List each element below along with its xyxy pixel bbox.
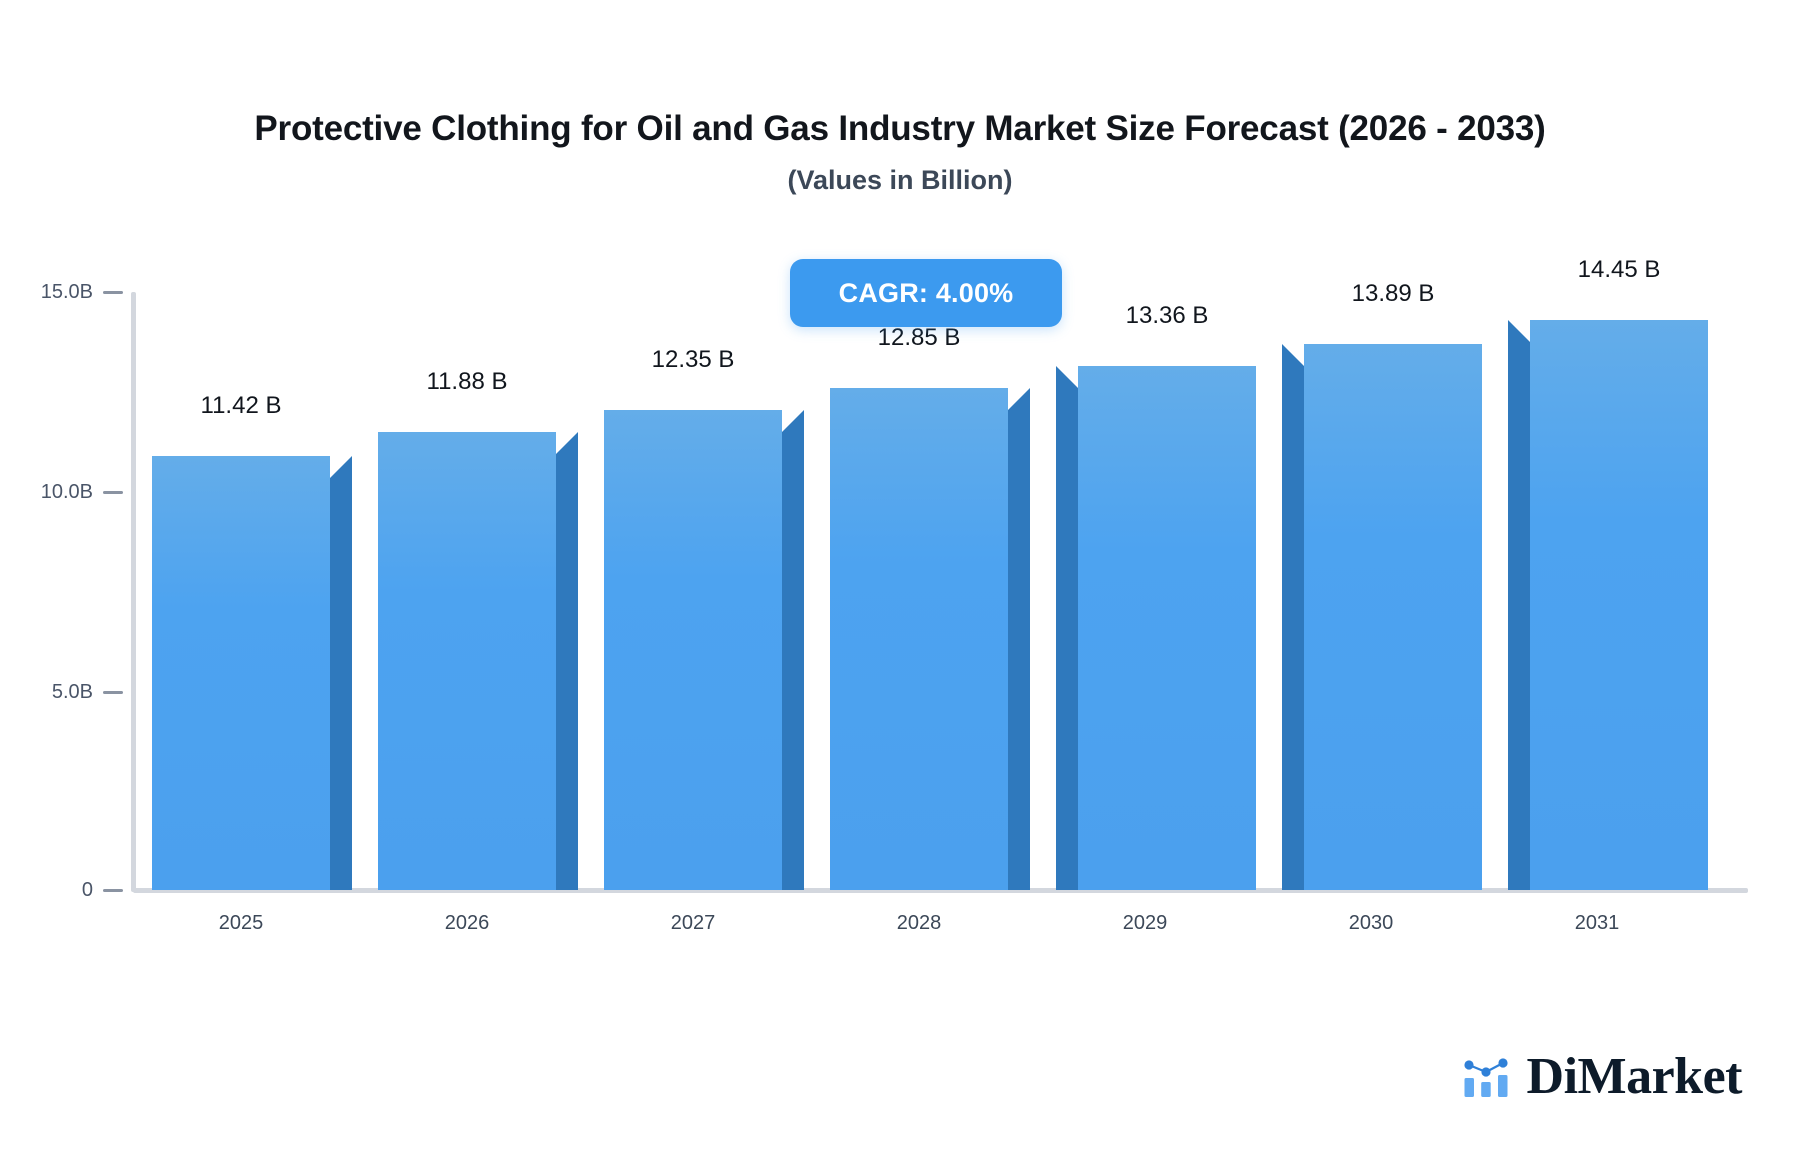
bar-value-label: 13.89 B — [1304, 280, 1482, 308]
bar-2031[interactable]: 14.45 B — [1530, 298, 1708, 890]
chart-container: Protective Clothing for Oil and Gas Indu… — [0, 0, 1800, 1156]
y-tick-15: 15.0B — [0, 280, 131, 304]
brand-name: DiMarket — [1527, 1051, 1742, 1103]
bar-front-face — [378, 432, 556, 890]
bar-2030[interactable]: 13.89 B — [1304, 322, 1482, 890]
y-tick-dash — [103, 691, 123, 694]
y-tick-label-5: 5.0B — [52, 680, 93, 704]
bar-front-face — [1078, 366, 1256, 890]
bar-value-label: 11.42 B — [152, 392, 330, 420]
brand-logo: DiMarket — [1461, 1046, 1742, 1108]
cagr-badge: CAGR: 4.00% — [790, 259, 1062, 327]
y-tick-10: 10.0B — [0, 480, 131, 504]
y-tick-5: 5.0B — [0, 680, 131, 704]
bar-value-label: 12.35 B — [604, 346, 782, 374]
y-tick-label-15: 15.0B — [41, 280, 93, 304]
bar-2026[interactable]: 11.88 B — [378, 410, 556, 890]
bar-2027[interactable]: 12.35 B — [604, 388, 782, 890]
bar-front-face — [152, 456, 330, 890]
y-tick-dash — [103, 291, 123, 294]
bar-side-face — [330, 456, 352, 890]
bar-value-label: 11.88 B — [378, 368, 556, 396]
bar-value-label: 12.85 B — [830, 324, 1008, 352]
bar-value-label: 13.36 B — [1078, 302, 1256, 330]
x-tick-2028: 2028 — [830, 910, 1008, 936]
bar-side-face — [1008, 388, 1030, 890]
bar-side-face — [782, 410, 804, 890]
y-tick-dash — [103, 889, 123, 892]
y-tick-0: 0 — [0, 878, 131, 902]
bar-front-face — [830, 388, 1008, 890]
bar-front-face — [604, 410, 782, 890]
x-tick-2029: 2029 — [1056, 910, 1234, 936]
x-tick-2027: 2027 — [604, 910, 782, 936]
bar-side-face — [1508, 320, 1530, 890]
bar-side-face — [556, 432, 578, 890]
y-tick-dash — [103, 491, 123, 494]
x-tick-2031: 2031 — [1508, 910, 1686, 936]
x-tick-2025: 2025 — [152, 910, 330, 936]
bar-front-face — [1304, 344, 1482, 890]
bar-front-face — [1530, 320, 1708, 890]
bar-side-face — [1056, 366, 1078, 890]
bar-2025[interactable]: 11.42 B — [152, 434, 330, 890]
bar-side-face — [1282, 344, 1304, 890]
plot-area: 15.0B 10.0B 5.0B 0 11.42 B 11.88 B — [0, 0, 1800, 1156]
bar-value-label: 14.45 B — [1530, 256, 1708, 284]
y-axis-line — [131, 292, 136, 892]
x-tick-2026: 2026 — [378, 910, 556, 936]
bar-chart-logo-icon — [1461, 1055, 1511, 1099]
y-tick-label-10: 10.0B — [41, 480, 93, 504]
y-tick-label-0: 0 — [82, 878, 93, 902]
bar-2029[interactable]: 13.36 B — [1078, 344, 1256, 890]
bar-2028[interactable]: 12.85 B — [830, 366, 1008, 890]
x-tick-2030: 2030 — [1282, 910, 1460, 936]
